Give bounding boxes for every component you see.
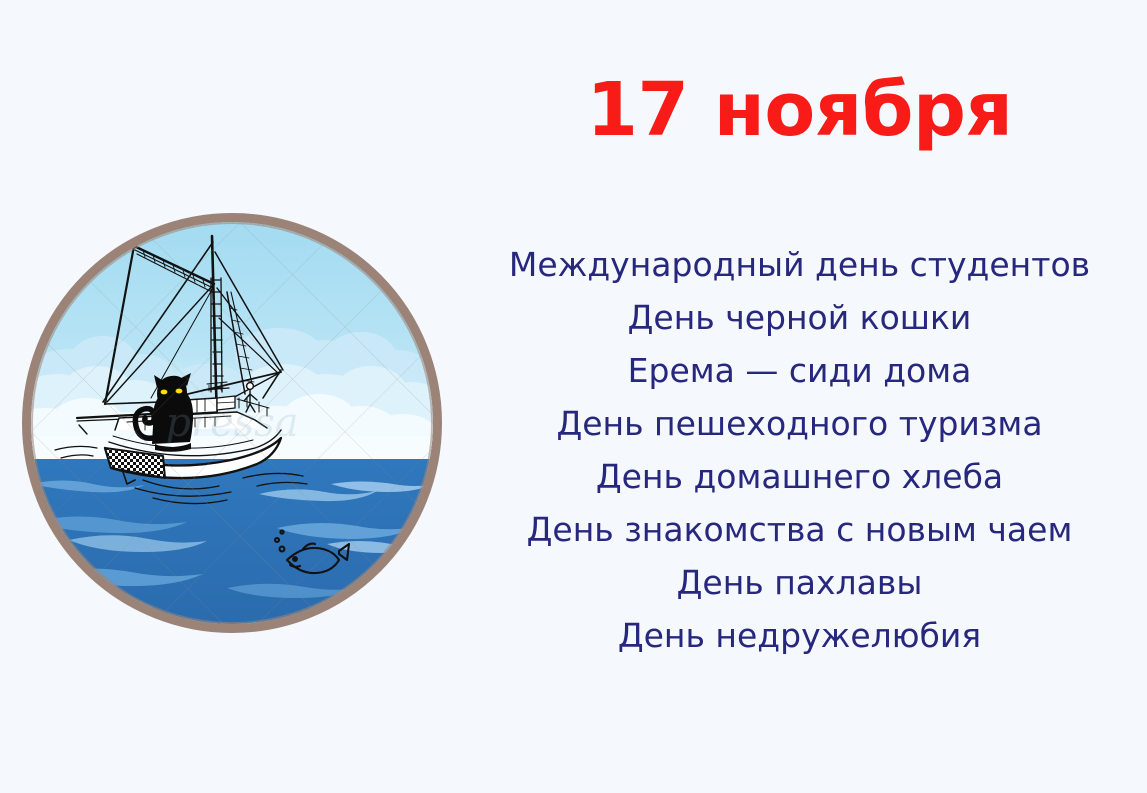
sailboat-scene-svg: pressa bbox=[31, 222, 433, 624]
list-item: День пешеходного туризма bbox=[452, 397, 1147, 450]
slide-canvas: pressa 17 ноября Международный день студ… bbox=[0, 0, 1147, 793]
list-item: День недружелюбия bbox=[452, 609, 1147, 662]
text-content-column: 17 ноября Международный день студентов Д… bbox=[452, 0, 1147, 793]
illustration-container: pressa bbox=[22, 213, 442, 633]
list-item: День черной кошки bbox=[452, 291, 1147, 344]
circular-illustration-frame: pressa bbox=[22, 213, 442, 633]
page-title: 17 ноября bbox=[452, 72, 1147, 150]
list-item: День знакомства с новым чаем bbox=[452, 503, 1147, 556]
list-item: День домашнего хлеба bbox=[452, 450, 1147, 503]
list-item: День пахлавы bbox=[452, 556, 1147, 609]
list-item: Ерема — сиди дома bbox=[452, 344, 1147, 397]
watermark-grid-overlay bbox=[31, 222, 433, 624]
holiday-list: Международный день студентов День черной… bbox=[452, 238, 1147, 662]
list-item: Международный день студентов bbox=[452, 238, 1147, 291]
